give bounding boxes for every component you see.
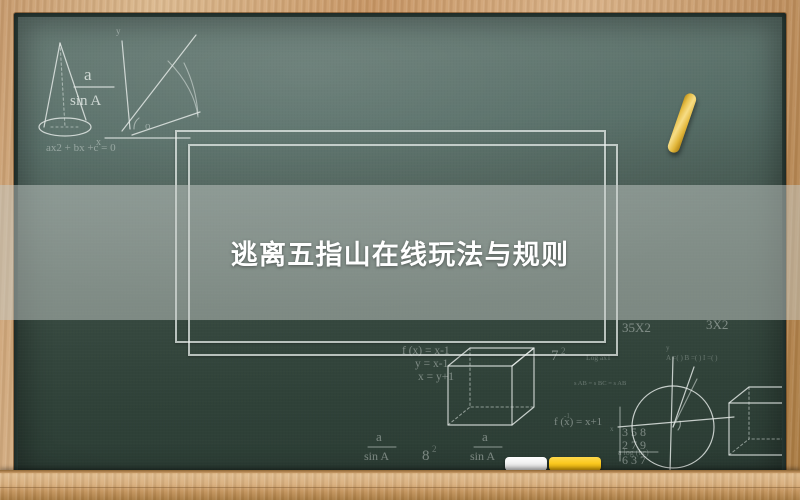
screenshot-root: a sin A y x o ax2 + bx +c = 0: [0, 0, 800, 500]
ledge-seam: [0, 487, 800, 488]
page-title: 逃离五指山在线玩法与规则: [231, 233, 569, 272]
title-container: 逃离五指山在线玩法与规则: [0, 185, 800, 320]
wooden-ledge: [0, 470, 800, 500]
white-chalk: [505, 457, 547, 471]
ledge-lip: [0, 470, 800, 473]
yellow-chalk: [549, 457, 601, 471]
